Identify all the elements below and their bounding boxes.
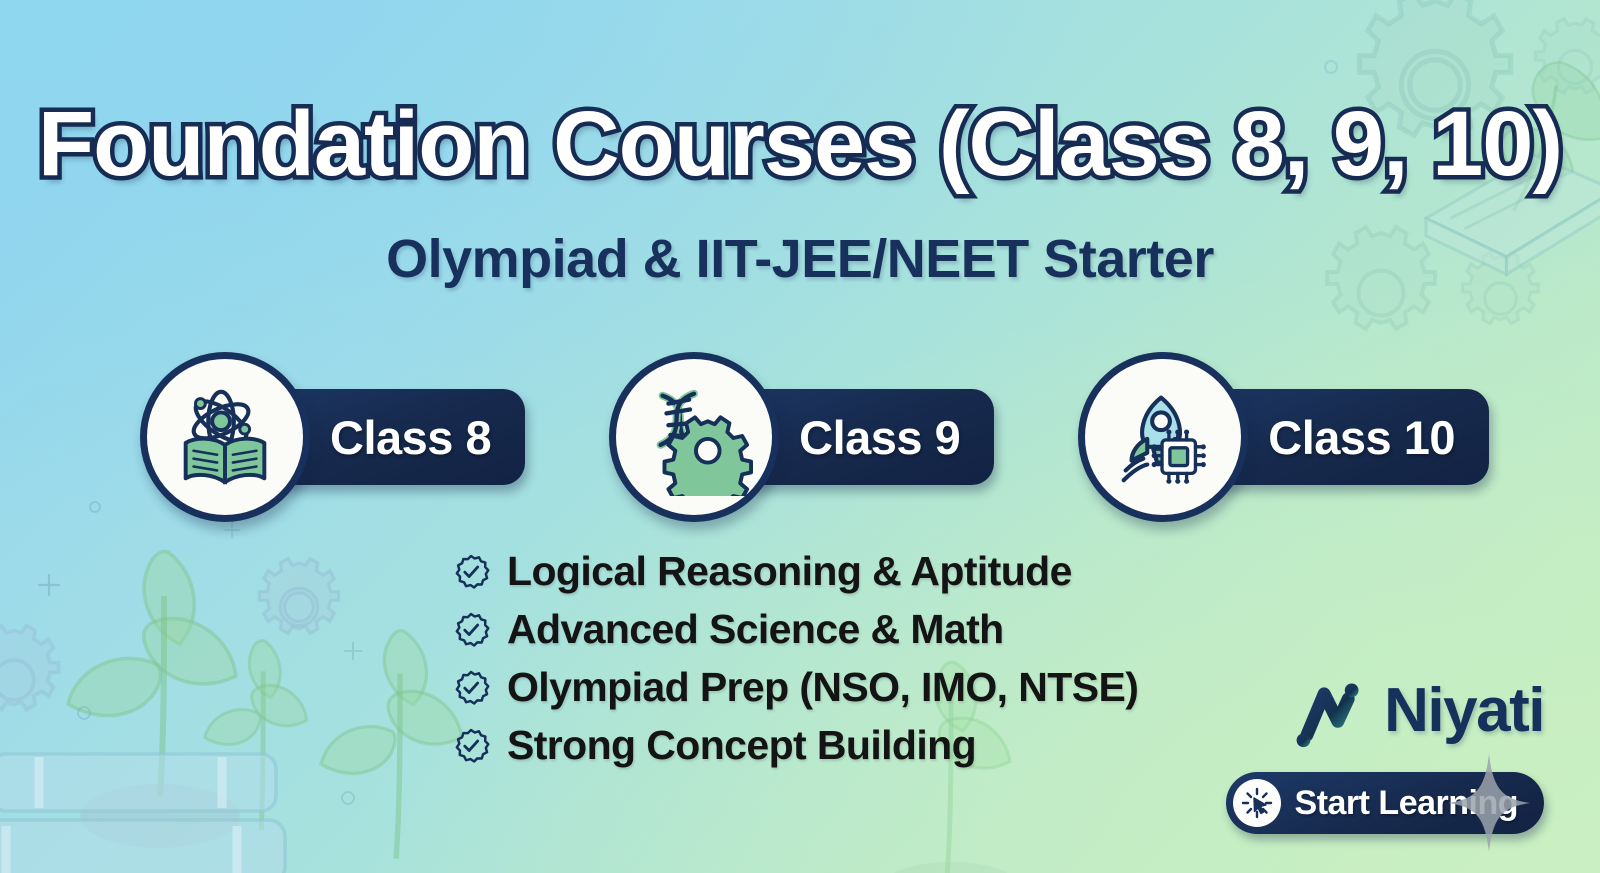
dot-icon [76, 705, 92, 721]
promo-banner: Foundation Courses (Class 8, 9, 10) Olym… [0, 0, 1600, 873]
start-learning-label: Start Learning [1295, 784, 1518, 823]
click-cursor-icon [1233, 779, 1281, 827]
page-title-container: Foundation Courses (Class 8, 9, 10) [0, 92, 1600, 197]
feature-label: Olympiad Prep (NSO, IMO, NTSE) [507, 664, 1138, 711]
class-icon-circle [609, 352, 779, 522]
check-badge-icon [452, 553, 490, 591]
page-title: Foundation Courses (Class 8, 9, 10) [38, 92, 1562, 197]
sparkle-icon [222, 520, 242, 540]
start-learning-button[interactable]: Start Learning [1226, 772, 1544, 834]
atom-book-icon [166, 378, 284, 496]
check-badge-icon [452, 611, 490, 649]
check-badge-icon [452, 669, 490, 707]
gear-icon [0, 618, 76, 742]
class-badge-class-10[interactable]: Class 10 [1078, 352, 1489, 522]
feature-label: Strong Concept Building [507, 722, 976, 769]
class-badge-class-8[interactable]: Class 8 [140, 352, 525, 522]
dna-gear-icon [635, 378, 753, 496]
page-subtitle: Olympiad & IIT-JEE/NEET Starter [386, 228, 1214, 290]
class-label: Class 10 [1268, 410, 1455, 465]
seedling-icon [182, 620, 352, 870]
seedling-icon [40, 516, 300, 873]
brand-logo[interactable]: Niyati [1288, 668, 1544, 754]
dot-icon [340, 790, 356, 806]
list-item: Olympiad Prep (NSO, IMO, NTSE) [452, 664, 1138, 711]
sparkle-icon [36, 572, 62, 598]
feature-label: Logical Reasoning & Aptitude [507, 548, 1072, 595]
feature-list: Logical Reasoning & Aptitude Advanced Sc… [452, 548, 1138, 769]
rocket-chip-icon [1104, 378, 1222, 496]
gear-icon [244, 552, 354, 662]
book-stack-icon [0, 742, 300, 873]
dot-icon [1322, 58, 1340, 76]
dot-icon [88, 500, 102, 514]
class-label: Class 8 [330, 410, 491, 465]
sparkle-icon [342, 640, 364, 662]
class-icon-circle [1078, 352, 1248, 522]
list-item: Strong Concept Building [452, 722, 1138, 769]
class-icon-circle [140, 352, 310, 522]
class-badge-class-9[interactable]: Class 9 [609, 352, 994, 522]
niyati-n-mark-icon [1288, 668, 1374, 754]
feature-label: Advanced Science & Math [507, 606, 1004, 653]
page-subtitle-container: Olympiad & IIT-JEE/NEET Starter [0, 228, 1600, 290]
class-label: Class 9 [799, 410, 960, 465]
class-badge-row: Class 8 [140, 352, 1489, 522]
list-item: Advanced Science & Math [452, 606, 1138, 653]
check-badge-icon [452, 727, 490, 765]
list-item: Logical Reasoning & Aptitude [452, 548, 1138, 595]
brand-name: Niyati [1384, 680, 1544, 742]
